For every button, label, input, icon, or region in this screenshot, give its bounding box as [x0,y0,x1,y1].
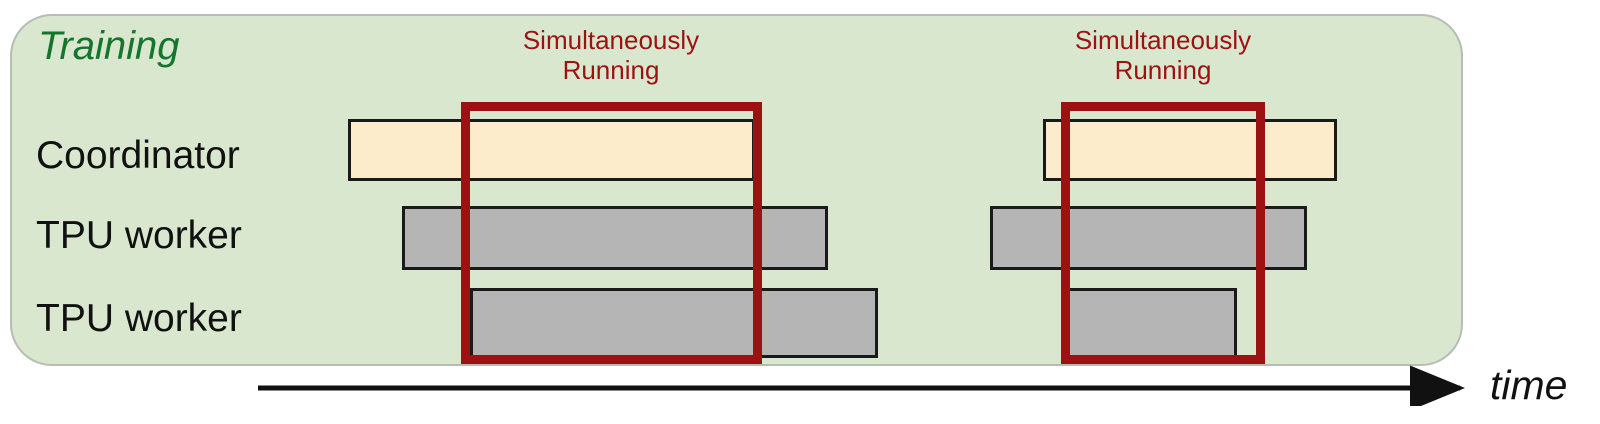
row-label-tpu-worker-2: TPU worker [36,299,242,338]
highlight-caption-2: Simultaneously Running [1008,26,1318,86]
highlight-box-simultaneous-2 [1061,102,1265,364]
row-label-tpu-worker-1: TPU worker [36,216,242,255]
diagram-canvas: Training Coordinator TPU worker TPU work… [0,0,1600,424]
row-label-coordinator: Coordinator [36,136,240,175]
time-axis-arrow [250,360,1490,406]
axis-label-time: time [1490,365,1567,406]
page-title: Training [38,26,180,66]
highlight-caption-1: Simultaneously Running [456,26,766,86]
highlight-box-simultaneous-1 [461,102,762,364]
